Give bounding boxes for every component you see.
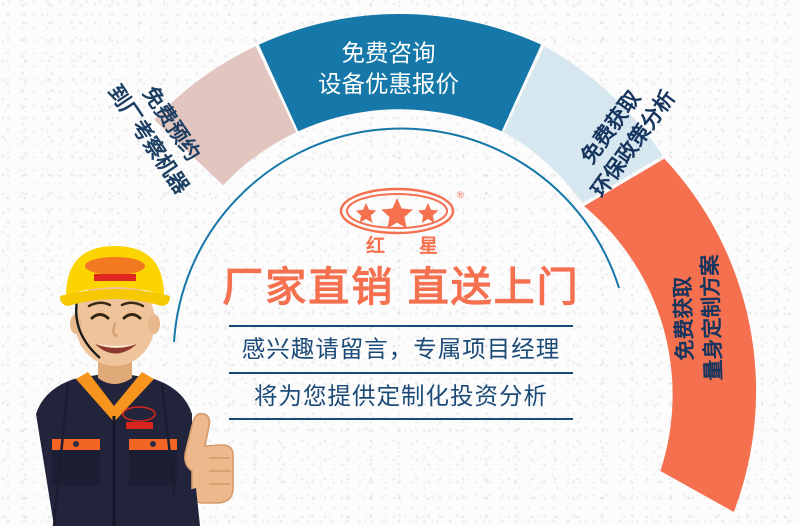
arc-label-plan: 免费获取 量身定制方案	[669, 254, 730, 382]
arc-label-plan-line2: 量身定制方案	[697, 254, 730, 381]
worker-button-right	[150, 441, 156, 447]
worker-ear-right	[148, 314, 160, 334]
arc-label-plan-line1: 免费获取	[669, 255, 702, 382]
arc-segment-plan	[584, 159, 756, 512]
arc-label-consult: 免费咨询 设备优惠报价	[318, 38, 459, 101]
hongxing-logo-icon: ® 红 星	[331, 184, 471, 258]
worker-button-left	[73, 441, 79, 447]
headline: 厂家直销 直送上门	[196, 266, 606, 309]
brand-logo: ® 红 星	[196, 182, 606, 260]
divider-bottom	[229, 418, 573, 420]
worker-helmet-badge	[94, 274, 136, 281]
brand-char-hong: 红	[366, 234, 385, 257]
worker-photo	[0, 226, 246, 526]
worker-helmet-decal	[85, 257, 145, 275]
worker-chest-badge	[126, 422, 153, 429]
arc-label-consult-line1: 免费咨询	[318, 38, 459, 69]
sub-headline-2: 将为您提供定制化投资分析	[196, 374, 606, 419]
arc-label-consult-line2: 设备优惠报价	[318, 69, 459, 100]
worker-cuff	[174, 488, 200, 526]
center-content: ® 红 星 厂家直销 直送上门 感兴趣请留言，专属项目经理 将为您提供定制化投资…	[196, 182, 606, 420]
sub-headline-1: 感兴趣请留言，专属项目经理	[196, 327, 606, 372]
brand-char-xing: 星	[419, 235, 438, 257]
promo-banner: 免费预约 到厂考察机器 免费咨询 设备优惠报价 免费获取 环保政策分析 免费获取…	[0, 0, 800, 526]
registered-mark: ®	[457, 190, 464, 200]
